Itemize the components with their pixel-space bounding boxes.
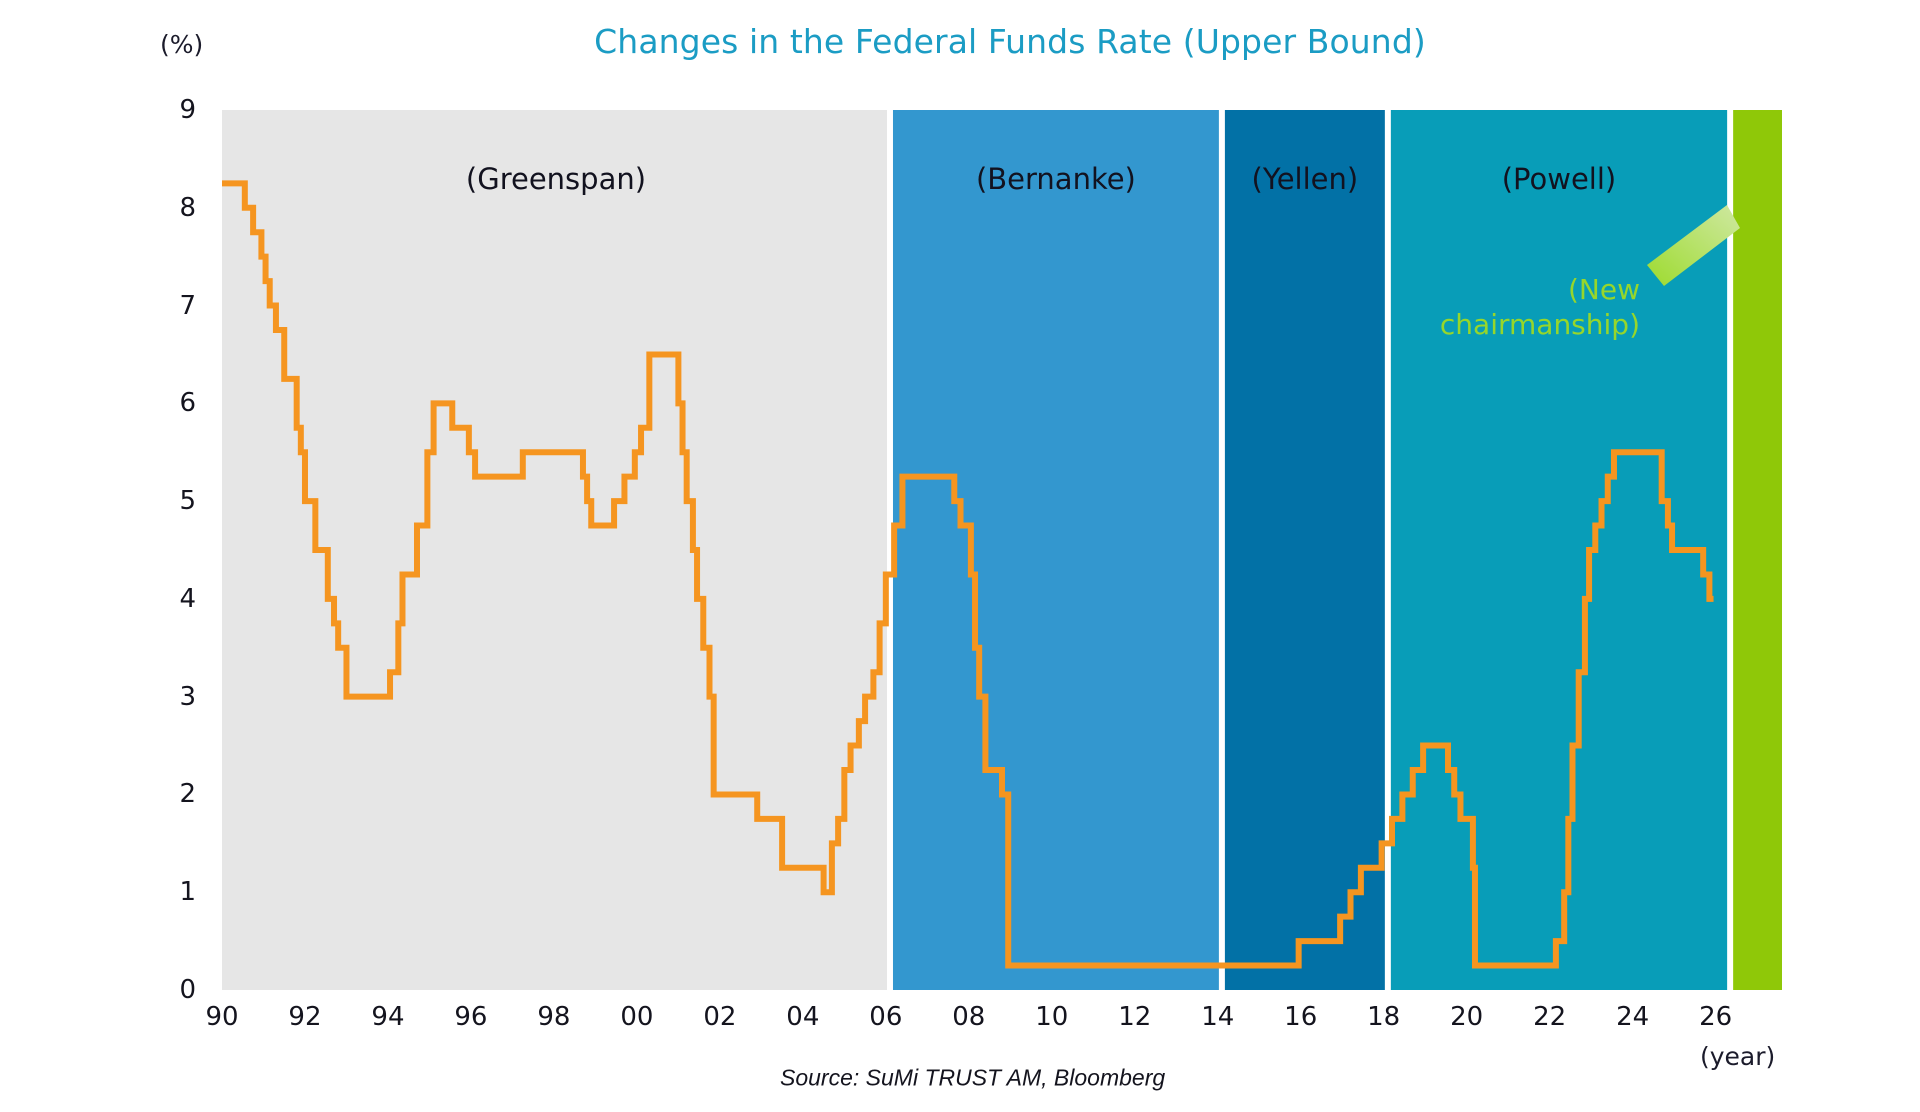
y-axis-tick-label: 3 (150, 682, 196, 712)
y-axis-tick-label: 4 (150, 584, 196, 614)
y-axis-tick-label: 2 (150, 779, 196, 809)
band-label-bernanke: (Bernanke) (976, 162, 1136, 196)
x-axis-tick-label: 10 (1022, 1002, 1082, 1032)
annotation-line-2: chairmanship) (1400, 307, 1640, 342)
x-axis-tick-label: 24 (1603, 1002, 1663, 1032)
y-axis-tick-label: 1 (150, 877, 196, 907)
x-axis-tick-label: 04 (773, 1002, 833, 1032)
y-axis-unit-label: (%) (160, 30, 203, 59)
x-axis-tick-label: 06 (856, 1002, 916, 1032)
band-divider (1727, 110, 1733, 990)
x-axis-tick-label: 02 (690, 1002, 750, 1032)
y-axis-tick-label: 0 (150, 975, 196, 1005)
annotation-line-1: (New (1400, 272, 1640, 307)
x-axis-tick-label: 22 (1520, 1002, 1580, 1032)
x-axis-tick-label: 16 (1271, 1002, 1331, 1032)
chart-page: Changes in the Federal Funds Rate (Upper… (0, 0, 1920, 1112)
x-axis-tick-label: 92 (275, 1002, 335, 1032)
x-axis-tick-label: 96 (441, 1002, 501, 1032)
y-axis-tick-label: 6 (150, 388, 196, 418)
x-axis-tick-label: 94 (358, 1002, 418, 1032)
x-axis-tick-label: 98 (524, 1002, 584, 1032)
regime-band-bernanke (890, 110, 1222, 990)
x-axis-tick-label: 08 (939, 1002, 999, 1032)
band-label-greenspan: (Greenspan) (466, 162, 646, 196)
x-axis-tick-label: 20 (1437, 1002, 1497, 1032)
x-axis-tick-label: 26 (1686, 1002, 1746, 1032)
band-divider (1385, 110, 1391, 990)
page-title: Changes in the Federal Funds Rate (Upper… (560, 22, 1460, 61)
x-axis-tick-label: 12 (1105, 1002, 1165, 1032)
x-axis-tick-label: 90 (192, 1002, 252, 1032)
chart-svg (222, 110, 1782, 990)
y-axis-tick-label: 7 (150, 291, 196, 321)
y-axis-tick-label: 9 (150, 95, 196, 125)
band-label-yellen: (Yellen) (1252, 162, 1359, 196)
regime-band-yellen (1222, 110, 1388, 990)
x-axis-unit-label: (year) (1700, 1042, 1775, 1071)
band-divider (1219, 110, 1225, 990)
x-axis-tick-label: 18 (1354, 1002, 1414, 1032)
y-axis-tick-label: 5 (150, 486, 196, 516)
x-axis-tick-label: 14 (1188, 1002, 1248, 1032)
source-note: Source: SuMi TRUST AM, Bloomberg (780, 1065, 1165, 1092)
new-chairmanship-annotation: (New chairmanship) (1400, 272, 1640, 342)
band-label-powell: (Powell) (1502, 162, 1617, 196)
x-axis-tick-label: 00 (607, 1002, 667, 1032)
regime-band-future (1730, 110, 1782, 990)
y-axis-tick-label: 8 (150, 193, 196, 223)
plot-area (222, 110, 1782, 990)
